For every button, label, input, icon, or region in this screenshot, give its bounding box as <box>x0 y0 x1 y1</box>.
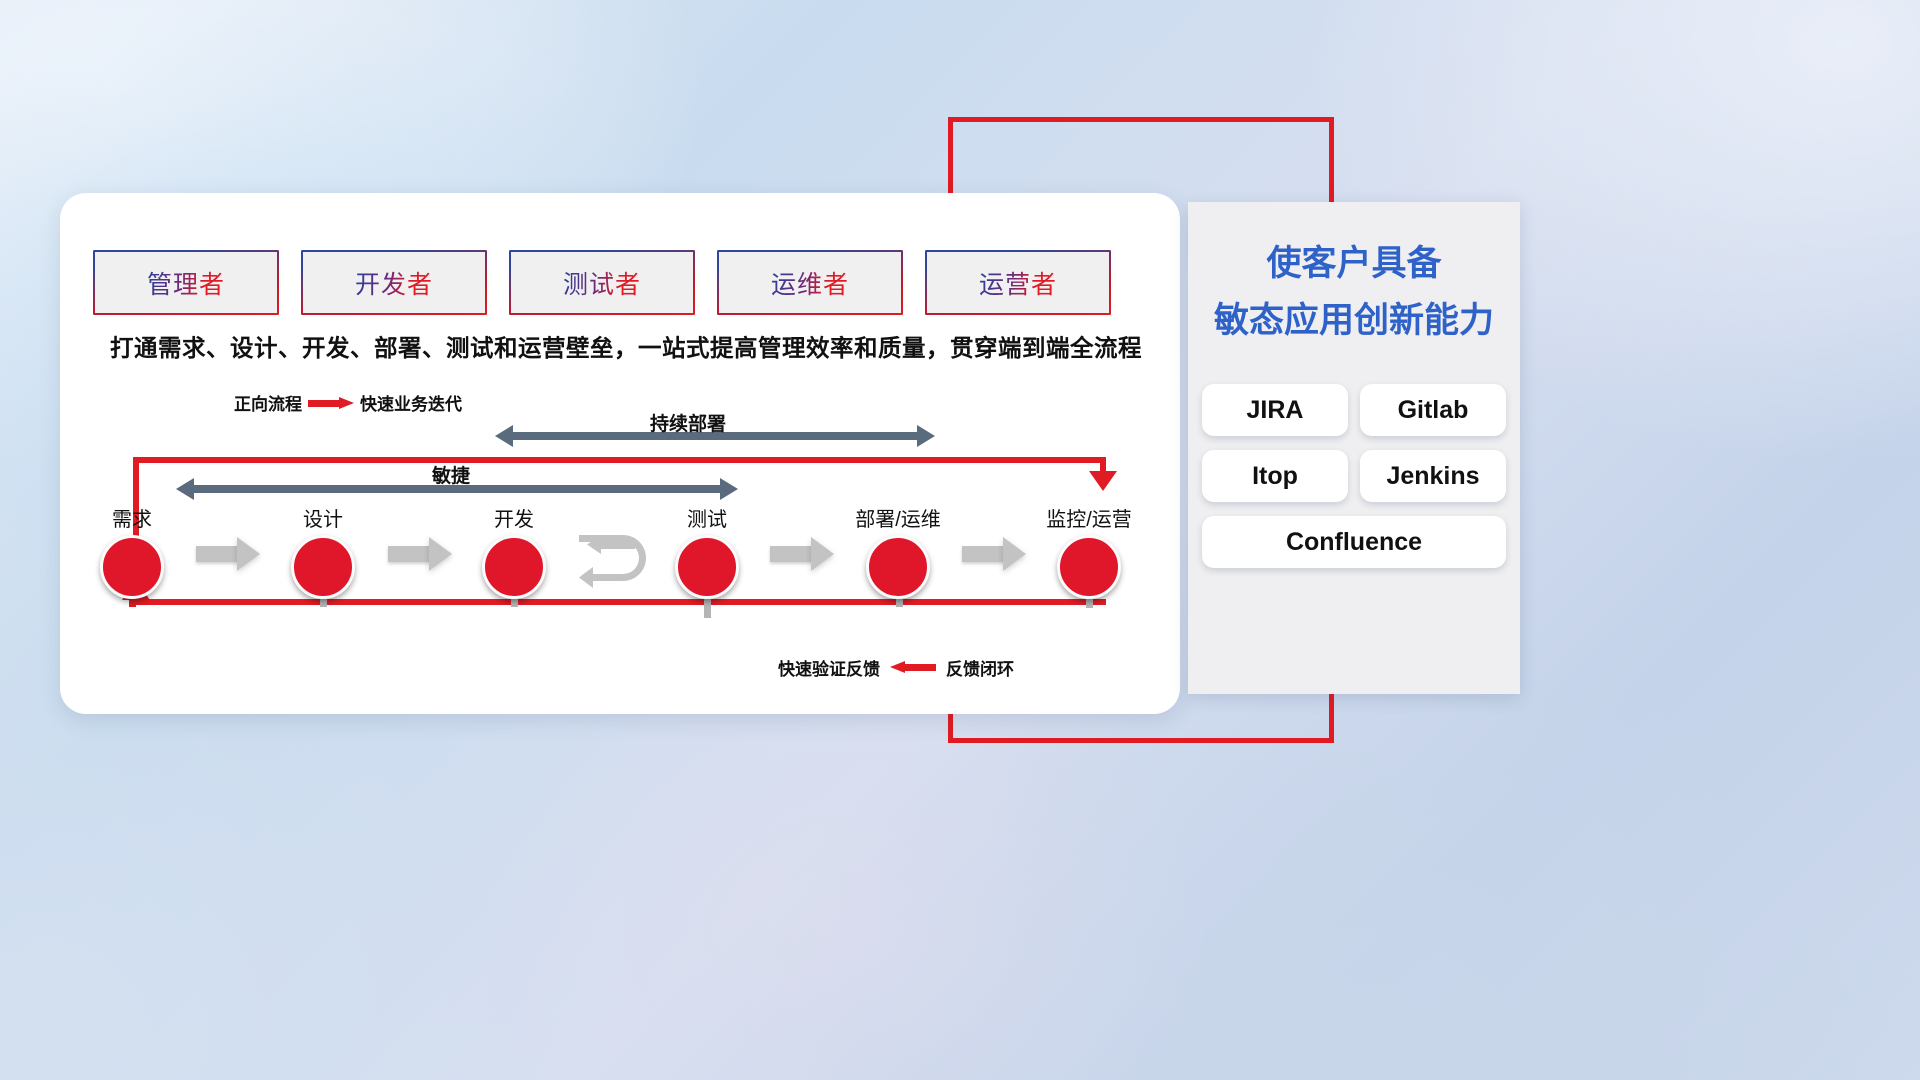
span-label-agile: 敏捷 <box>432 461 470 488</box>
flow-arrow-req-to-design-icon <box>196 537 260 571</box>
stage-label: 开发 <box>454 503 574 532</box>
arrow-left-red-icon <box>890 661 936 674</box>
flow-arrow-deploy-to-monitor-icon <box>962 537 1026 571</box>
legend-feedback-to: 反馈闭环 <box>946 655 1014 680</box>
role-chip-label: 开发者 <box>355 265 433 301</box>
stage-label: 测试 <box>647 503 767 532</box>
role-chip-operator[interactable]: 运营者 <box>925 250 1111 315</box>
stage-monitor-operate[interactable]: 监控/运营 <box>1029 503 1149 599</box>
role-chip-label: 运营者 <box>979 265 1057 301</box>
role-chip-ops[interactable]: 运维者 <box>717 250 903 315</box>
flow-arrow-design-to-dev-icon <box>388 537 452 571</box>
tool-badge-jira[interactable]: JIRA <box>1202 384 1348 436</box>
card-description: 打通需求、设计、开发、部署、测试和运营壁垒，一站式提高管理效率和质量，贯穿端到端… <box>106 329 1146 363</box>
panel-title-line1: 使客户具备 <box>1188 235 1520 286</box>
legend-feedback-from: 快速验证反馈 <box>778 655 880 680</box>
role-chip-label: 管理者 <box>147 265 225 301</box>
arrow-right-red-icon <box>308 397 354 409</box>
loop-back-arrow-icon <box>577 534 661 596</box>
stage-test[interactable]: 测试 <box>647 503 767 599</box>
role-chip-tester[interactable]: 测试者 <box>509 250 695 315</box>
stage-develop[interactable]: 开发 <box>454 503 574 599</box>
tool-badge-jenkins[interactable]: Jenkins <box>1360 450 1506 502</box>
legend-forward-to: 快速业务迭代 <box>360 390 462 415</box>
capability-panel: 使客户具备 敏态应用创新能力 JIRA Gitlab Itop Jenkins … <box>1188 202 1520 694</box>
span-label-continuous-deploy: 持续部署 <box>650 409 726 436</box>
outer-loop-top <box>948 117 1334 122</box>
stage-label: 需求 <box>72 503 192 532</box>
tool-badge-itop[interactable]: Itop <box>1202 450 1348 502</box>
stage-design[interactable]: 设计 <box>263 503 383 599</box>
stage-dot <box>482 535 546 599</box>
tool-badge-gitlab[interactable]: Gitlab <box>1360 384 1506 436</box>
stage-dot <box>100 535 164 599</box>
legend-forward-from: 正向流程 <box>234 390 302 415</box>
tool-badge-confluence[interactable]: Confluence <box>1202 516 1506 568</box>
tool-badge-list: JIRA Gitlab Itop Jenkins Confluence <box>1196 384 1512 568</box>
role-chip-developer[interactable]: 开发者 <box>301 250 487 315</box>
flow-arrow-test-to-deploy-icon <box>770 537 834 571</box>
role-chip-label: 测试者 <box>563 265 641 301</box>
stage-label: 部署/运维 <box>838 503 958 532</box>
stage-requirement[interactable]: 需求 <box>72 503 192 599</box>
legend-forward-flow: 正向流程 快速业务迭代 <box>234 390 462 415</box>
stage-label: 设计 <box>263 503 383 532</box>
outer-loop-bottom <box>948 738 1334 743</box>
stage-deploy-ops[interactable]: 部署/运维 <box>838 503 958 599</box>
stage-label: 监控/运营 <box>1029 503 1149 532</box>
process-loop-down-arrowhead-icon <box>1089 471 1117 491</box>
role-chip-list: 管理者 开发者 测试者 运维者 运营者 <box>93 250 1111 315</box>
stage-dot <box>291 535 355 599</box>
stage-dot <box>1057 535 1121 599</box>
role-chip-manager[interactable]: 管理者 <box>93 250 279 315</box>
role-chip-label: 运维者 <box>771 265 849 301</box>
stage-dot <box>675 535 739 599</box>
legend-feedback-loop: 快速验证反馈 反馈闭环 <box>778 655 1014 680</box>
process-loop-top <box>133 457 1106 463</box>
stage-dot <box>866 535 930 599</box>
process-loop-bottom <box>133 599 1106 605</box>
panel-title-line2: 敏态应用创新能力 <box>1188 292 1520 343</box>
